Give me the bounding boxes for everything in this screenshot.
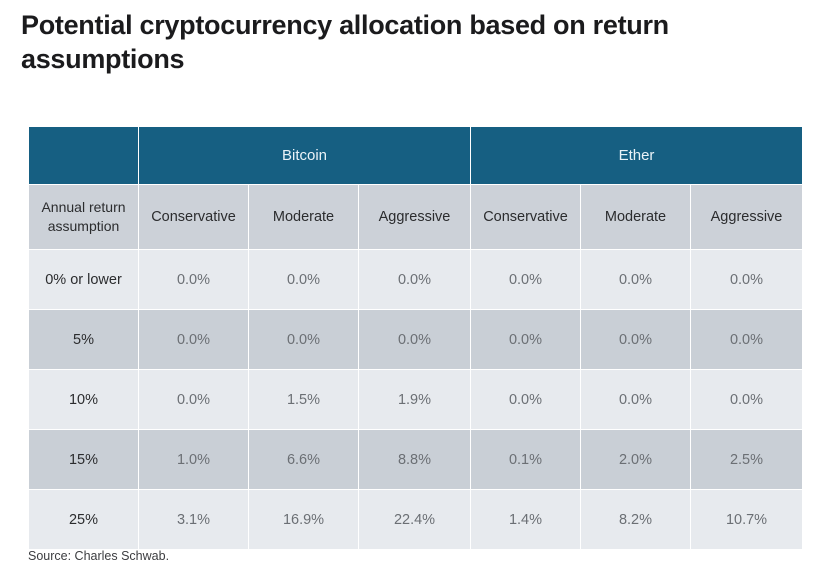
cell-value: 6.6% (249, 430, 359, 490)
cell-value: 1.9% (359, 370, 471, 430)
column-header-annual-return-assumption: Annual return assumption (29, 185, 139, 250)
cell-value: 10.7% (691, 490, 803, 550)
cell-value: 8.8% (359, 430, 471, 490)
cell-value: 0.0% (471, 310, 581, 370)
cell-value: 0.0% (139, 310, 249, 370)
row-label: 5% (29, 310, 139, 370)
cell-value: 1.4% (471, 490, 581, 550)
group-header-bitcoin: Bitcoin (139, 127, 471, 185)
figure-title: Potential cryptocurrency allocation base… (21, 8, 721, 76)
cell-value: 0.0% (471, 370, 581, 430)
allocation-table: Bitcoin Ether Annual return assumption C… (28, 126, 803, 550)
column-header-row: Annual return assumption Conservative Mo… (29, 185, 803, 250)
cell-value: 2.5% (691, 430, 803, 490)
table-row: 25% 3.1% 16.9% 22.4% 1.4% 8.2% 10.7% (29, 490, 803, 550)
cell-value: 8.2% (581, 490, 691, 550)
cell-value: 0.0% (691, 370, 803, 430)
column-header-ether-aggressive: Aggressive (691, 185, 803, 250)
cell-value: 1.5% (249, 370, 359, 430)
table-row: 0% or lower 0.0% 0.0% 0.0% 0.0% 0.0% 0.0… (29, 250, 803, 310)
table-head: Bitcoin Ether Annual return assumption C… (29, 127, 803, 250)
cell-value: 3.1% (139, 490, 249, 550)
cell-value: 0.0% (471, 250, 581, 310)
cell-value: 16.9% (249, 490, 359, 550)
cell-value: 2.0% (581, 430, 691, 490)
table-row: 10% 0.0% 1.5% 1.9% 0.0% 0.0% 0.0% (29, 370, 803, 430)
column-header-ether-conservative: Conservative (471, 185, 581, 250)
row-label: 15% (29, 430, 139, 490)
table-row: 15% 1.0% 6.6% 8.8% 0.1% 2.0% 2.5% (29, 430, 803, 490)
row-label: 25% (29, 490, 139, 550)
cell-value: 0.0% (691, 310, 803, 370)
cell-value: 0.0% (691, 250, 803, 310)
cell-value: 0.0% (581, 310, 691, 370)
table-body: 0% or lower 0.0% 0.0% 0.0% 0.0% 0.0% 0.0… (29, 250, 803, 550)
cell-value: 0.0% (249, 310, 359, 370)
cell-value: 0.0% (581, 370, 691, 430)
cell-value: 0.0% (359, 310, 471, 370)
source-note: Source: Charles Schwab. (28, 549, 169, 563)
cell-value: 0.0% (139, 370, 249, 430)
row-label: 10% (29, 370, 139, 430)
group-header-ether: Ether (471, 127, 803, 185)
cell-value: 0.0% (359, 250, 471, 310)
cell-value: 1.0% (139, 430, 249, 490)
cell-value: 0.0% (581, 250, 691, 310)
allocation-table-wrapper: Bitcoin Ether Annual return assumption C… (28, 126, 800, 550)
corner-header-cell (29, 127, 139, 185)
column-header-bitcoin-conservative: Conservative (139, 185, 249, 250)
row-label: 0% or lower (29, 250, 139, 310)
column-header-ether-moderate: Moderate (581, 185, 691, 250)
cell-value: 0.0% (249, 250, 359, 310)
column-header-bitcoin-moderate: Moderate (249, 185, 359, 250)
group-header-row: Bitcoin Ether (29, 127, 803, 185)
cell-value: 22.4% (359, 490, 471, 550)
cell-value: 0.1% (471, 430, 581, 490)
figure-container: Potential cryptocurrency allocation base… (0, 0, 826, 574)
column-header-bitcoin-aggressive: Aggressive (359, 185, 471, 250)
table-row: 5% 0.0% 0.0% 0.0% 0.0% 0.0% 0.0% (29, 310, 803, 370)
cell-value: 0.0% (139, 250, 249, 310)
